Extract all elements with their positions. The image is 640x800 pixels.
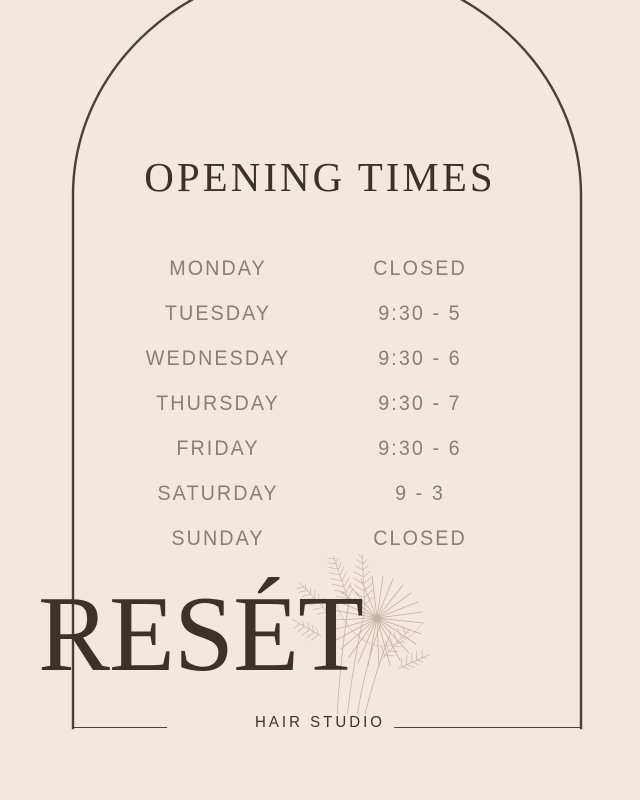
hours-value: 9:30 - 7 <box>324 392 516 416</box>
table-row: FRIDAY 9:30 - 6 <box>118 426 522 471</box>
opening-hours-table: MONDAY CLOSED TUESDAY 9:30 - 5 WEDNESDAY… <box>118 246 522 561</box>
table-row: WEDNESDAY 9:30 - 6 <box>118 336 522 381</box>
hours-value: 9 - 3 <box>324 482 516 506</box>
day-label: SATURDAY <box>124 482 312 506</box>
day-label: TUESDAY <box>124 302 312 326</box>
brand-name: RESÉT <box>38 585 363 685</box>
hours-value: 9:30 - 5 <box>324 302 516 326</box>
hours-value: 9:30 - 6 <box>324 347 516 371</box>
brand-tagline: HAIR STUDIO <box>19 714 621 732</box>
day-label: MONDAY <box>124 257 312 281</box>
opening-times-poster: OPENING TIMES MONDAY CLOSED TUESDAY 9:30… <box>0 0 640 800</box>
day-label: WEDNESDAY <box>124 347 312 371</box>
day-label: THURSDAY <box>124 392 312 416</box>
hours-value: 9:30 - 6 <box>324 437 516 461</box>
page-title: OPENING TIMES <box>0 153 640 201</box>
table-row: SUNDAY CLOSED <box>118 516 522 561</box>
table-row: THURSDAY 9:30 - 7 <box>118 381 522 426</box>
hours-value: CLOSED <box>324 527 516 551</box>
table-row: TUESDAY 9:30 - 5 <box>118 291 522 336</box>
day-label: FRIDAY <box>124 437 312 461</box>
hours-value: CLOSED <box>324 257 516 281</box>
table-row: MONDAY CLOSED <box>118 246 522 291</box>
table-row: SATURDAY 9 - 3 <box>118 471 522 516</box>
day-label: SUNDAY <box>124 527 312 551</box>
